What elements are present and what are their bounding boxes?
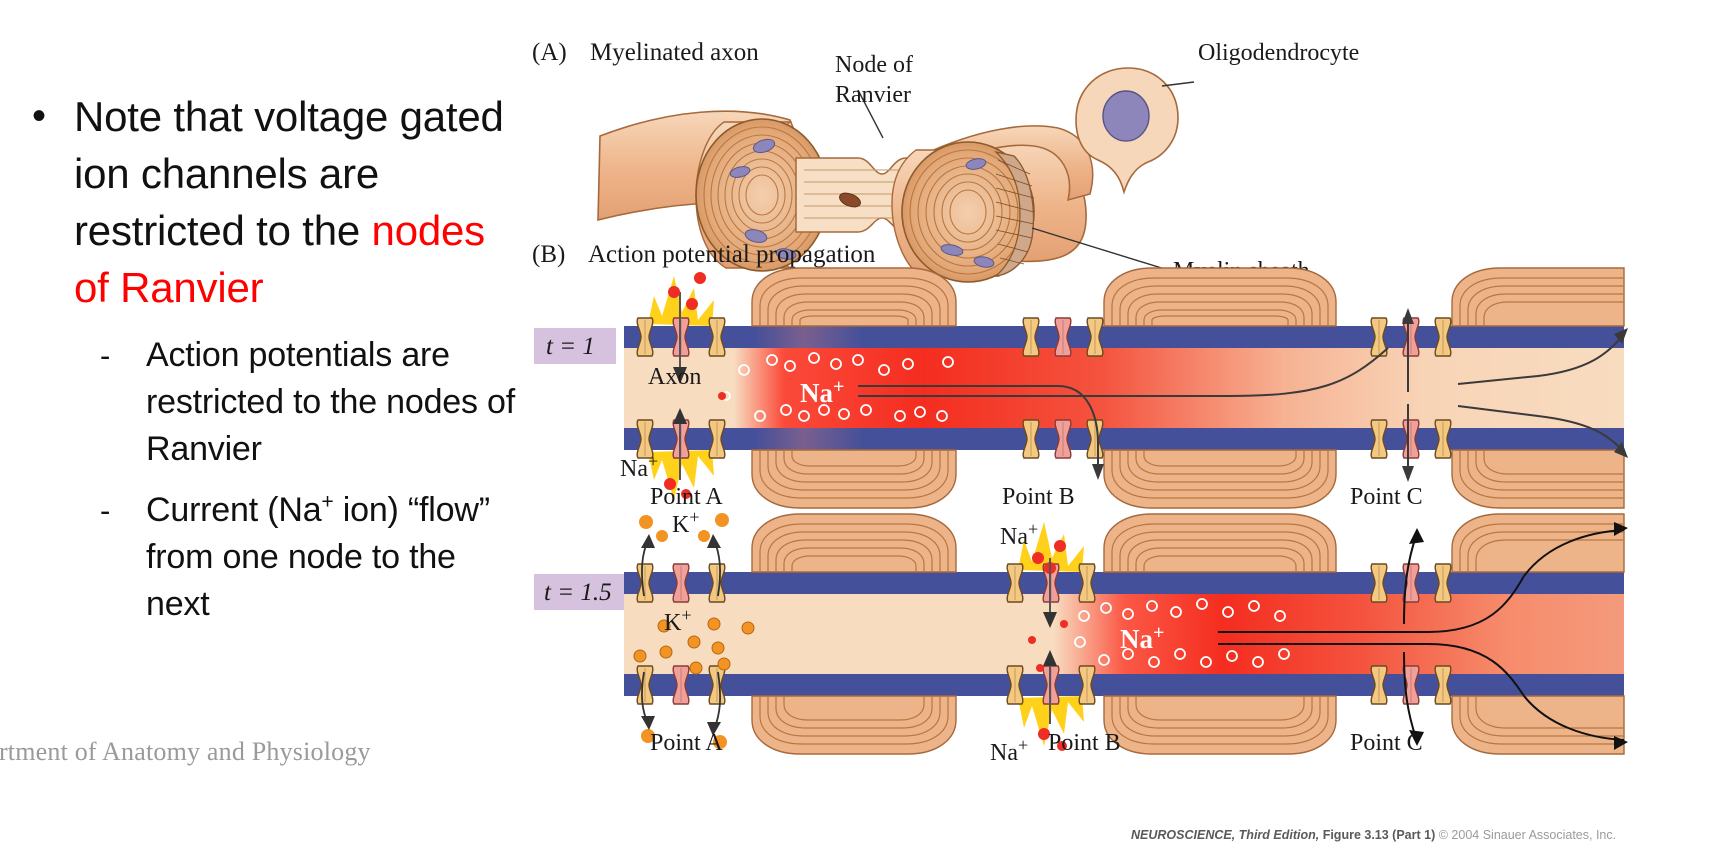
figure-credit: NEUROSCIENCE, Third Edition, Figure 3.13… — [1131, 828, 1616, 842]
sub-bullet-1-marker: - — [100, 332, 146, 379]
sub-bullet-1: - Action potentials are restricted to th… — [100, 332, 527, 473]
sub-bullet-1-text: Action potentials are restricted to the … — [146, 332, 527, 473]
ion-label-na-outside-1: Na+ — [620, 451, 658, 482]
time-label-2: t = 1.5 — [544, 579, 612, 606]
panel-b-row-1: t = 1 — [534, 268, 1628, 510]
panel-b: (B) Action potential propagation t = 1 — [532, 241, 1628, 766]
membrane-top-1 — [624, 326, 1624, 348]
sodium-ions-red-1 — [718, 392, 726, 400]
channels-node-c-bottom-2 — [1371, 666, 1451, 704]
channels-node-c-top-2 — [1371, 564, 1451, 602]
sub-bullet-2-text-a: Current (Na — [146, 491, 321, 529]
ion-label-na-top-node-b-2: Na+ — [1000, 519, 1038, 550]
panel-a-internode-right — [892, 142, 1034, 282]
label-node-of-ranvier-line2: Ranvier — [835, 82, 911, 108]
panel-b-row-2: t = 1.5 — [534, 507, 1628, 766]
point-label-b-2: Point B — [1048, 730, 1121, 756]
channels-node-c-bottom-1 — [1371, 420, 1451, 458]
bullet-main: • Note that voltage gated ion channels a… — [22, 88, 527, 316]
footer-department: partment of Anatomy and Physiology — [0, 737, 371, 767]
sub-bullet-2-text: Current (Na+ ion) “flow” from one node t… — [146, 487, 527, 628]
membrane-top-2 — [624, 572, 1624, 594]
channels-node-b-top-1 — [1023, 318, 1103, 356]
axoplasm-1 — [624, 344, 1624, 432]
credit-book: NEUROSCIENCE, — [1131, 828, 1235, 842]
panel-b-label: (B) — [532, 241, 565, 268]
k-arrowhead-bottom-left-2 — [641, 716, 655, 730]
time-label-1: t = 1 — [546, 333, 595, 360]
panel-a-label: (A) — [532, 39, 567, 66]
bullet-marker: • — [22, 88, 74, 145]
slide: • Note that voltage gated ion channels a… — [0, 0, 1722, 862]
sub-bullet-2-superscript: + — [321, 491, 333, 514]
label-node-of-ranvier-line1: Node of — [835, 52, 913, 78]
credit-figure: Figure 3.13 (Part 1) — [1323, 828, 1436, 842]
membrane-bottom-1 — [624, 428, 1624, 450]
ion-label-na-bottom-node-b-2: Na+ — [990, 735, 1028, 766]
sub-bullet-list: - Action potentials are restricted to th… — [22, 332, 527, 628]
panel-b-title: Action potential propagation — [588, 241, 876, 268]
credit-edition: Third Edition, — [1239, 828, 1320, 842]
sub-bullet-2: - Current (Na+ ion) “flow” from one node… — [100, 487, 527, 628]
point-label-c-2: Point C — [1350, 730, 1423, 756]
ion-label-k-outside-2: K+ — [672, 507, 700, 538]
figure-panel: (A) Myelinated axon — [528, 24, 1722, 784]
point-label-c-1: Point C — [1350, 484, 1423, 510]
membrane-bottom-2 — [624, 674, 1624, 696]
credit-copyright: © 2004 Sinauer Associates, Inc. — [1439, 828, 1616, 842]
sub-bullet-2-marker: - — [100, 487, 146, 534]
bullet-list: • Note that voltage gated ion channels a… — [22, 88, 527, 642]
k-arrowhead-top-left-2 — [641, 534, 655, 548]
panel-a-title: Myelinated axon — [590, 39, 759, 66]
channels-node-b-bottom-1 — [1023, 420, 1103, 458]
point-label-a-2: Point A — [650, 730, 723, 756]
point-label-a-1: Point A — [650, 484, 723, 510]
label-axon-1: Axon — [648, 364, 701, 390]
label-oligodendrocyte: Oligodendrocyte — [1198, 40, 1359, 66]
point-label-b-1: Point B — [1002, 484, 1075, 510]
bullet-main-text: Note that voltage gated ion channels are… — [74, 88, 527, 316]
